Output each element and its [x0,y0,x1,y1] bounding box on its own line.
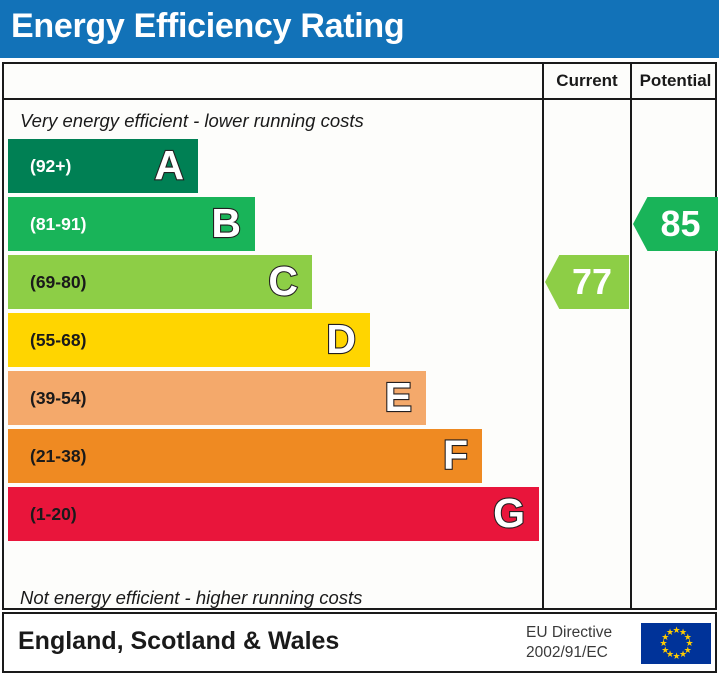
band-letter-g: G [493,487,525,541]
band-bar-f: (21-38)F [8,429,482,483]
band-bar-d: (55-68)D [8,313,370,367]
caption-bottom: Not energy efficient - higher running co… [20,587,362,609]
directive-line-1: EU Directive [526,623,630,643]
rating-arrow-current: 77 [545,255,629,309]
band-range-d: (55-68) [30,313,86,367]
band-letter-c: C [268,255,298,309]
rating-value-current: 77 [562,264,612,300]
band-range-g: (1-20) [30,487,77,541]
rating-table: Current Potential Very energy efficient … [2,62,717,610]
band-range-c: (69-80) [30,255,86,309]
band-bar-a: (92+)A [8,139,198,193]
energy-efficiency-rating-chart: Energy Efficiency Rating Current Potenti… [0,0,719,675]
band-bar-g: (1-20)G [8,487,539,541]
band-range-f: (21-38) [30,429,86,483]
band-letter-b: B [211,197,241,251]
eu-flag-icon: ★★★★★★★★★★★★ [641,623,711,664]
chart-footer: England, Scotland & Wales EU Directive 2… [2,612,717,673]
band-bar-e: (39-54)E [8,371,426,425]
rating-value-potential: 85 [650,206,700,242]
rating-arrow-potential: 85 [633,197,718,251]
column-header-potential: Potential [632,64,719,98]
band-letter-d: D [326,313,356,367]
band-bar-c: (69-80)C [8,255,312,309]
caption-top: Very energy efficient - lower running co… [20,110,364,132]
column-divider-left [542,64,544,608]
band-range-e: (39-54) [30,371,86,425]
footer-directive-text: EU Directive 2002/91/EC [526,623,630,663]
directive-line-2: 2002/91/EC [526,643,630,663]
band-bar-b: (81-91)B [8,197,255,251]
band-range-b: (81-91) [30,197,86,251]
band-letter-f: F [443,429,468,483]
band-letter-a: A [154,139,184,193]
band-letter-e: E [385,371,412,425]
chart-header-banner: Energy Efficiency Rating [0,0,719,58]
footer-region-label: England, Scotland & Wales [18,627,339,656]
page-title: Energy Efficiency Rating [11,7,404,46]
eu-flag-star: ★ [666,629,673,636]
column-divider-right [630,64,632,608]
band-range-a: (92+) [30,139,71,193]
column-header-current: Current [544,64,630,98]
